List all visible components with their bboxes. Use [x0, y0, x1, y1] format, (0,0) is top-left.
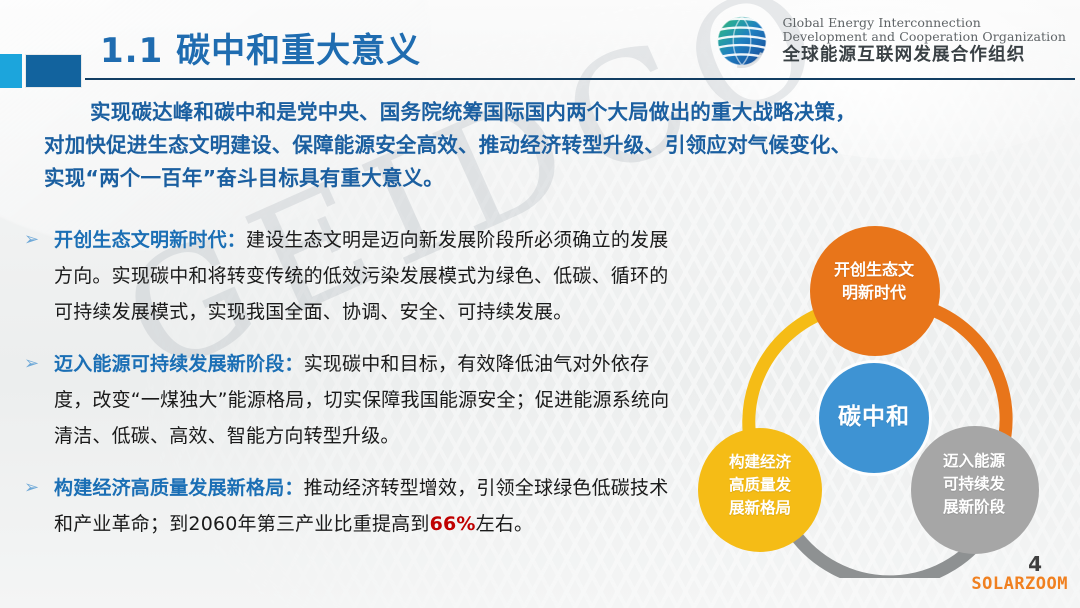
intro-paragraph: 实现碳达峰和碳中和是党中央、国务院统筹国际国内两个大局做出的重大战略决策， 对加…	[44, 96, 1040, 195]
logo-text-block: Global Energy Interconnection Developmen…	[782, 16, 1066, 66]
bullet-list: ➢ 开创生态文明新时代：建设生态文明是迈向新发展阶段所必须确立的发展方向。实现碳…	[24, 222, 684, 558]
logo-english-line-1: Global Energy Interconnection	[782, 16, 1066, 30]
bullet-3-lead: 构建经济高质量发展新格局：	[54, 477, 304, 499]
title-divider	[85, 78, 1075, 80]
bullet-arrow-icon: ➢	[24, 346, 39, 382]
node-circle-top[interactable]	[810, 226, 940, 356]
node-circle-center[interactable]	[819, 363, 929, 473]
page-title: 1.1 碳中和重大意义	[100, 23, 421, 72]
bullet-item-1: ➢ 开创生态文明新时代：建设生态文明是迈向新发展阶段所必须确立的发展方向。实现碳…	[24, 222, 684, 330]
diagram-svg	[690, 218, 1080, 578]
logo-chinese-name: 全球能源互联网发展合作组织	[782, 46, 1066, 66]
node-circle-right[interactable]	[911, 426, 1039, 554]
title-accent-navy-block	[25, 54, 82, 88]
globe-icon	[711, 10, 773, 72]
bullet-arrow-icon: ➢	[24, 222, 39, 258]
node-circle-left[interactable]	[698, 428, 822, 552]
intro-line-1: 实现碳达峰和碳中和是党中央、国务院统筹国际国内两个大局做出的重大战略决策，	[90, 100, 856, 124]
title-accent-cyan-block	[0, 54, 22, 88]
intro-line-3: 实现“两个一百年”奋斗目标具有重大意义。	[44, 166, 444, 190]
bullet-3-text-after: 左右。	[476, 513, 534, 535]
bullet-1-lead: 开创生态文明新时代：	[54, 229, 246, 251]
presentation-slide: GEIDCO 1.1 碳中和重大意义	[0, 0, 1080, 608]
three-circle-diagram: 开创生态文明新时代 碳中和 构建经济高质量发展新格局 迈入能源可持续发展新阶段	[690, 218, 1080, 578]
bullet-arrow-icon: ➢	[24, 470, 39, 506]
bullet-3-highlight: 66%	[430, 513, 476, 535]
organization-logo: Global Energy Interconnection Developmen…	[711, 10, 1066, 72]
bullet-item-3: ➢ 构建经济高质量发展新格局：推动经济转型增效，引领全球绿色低碳技术和产业革命；…	[24, 470, 684, 542]
page-number: 4	[1028, 552, 1042, 576]
site-watermark: SOLARZOOM	[971, 574, 1068, 594]
intro-line-2: 对加快促进生态文明建设、保障能源安全高效、推动经济转型升级、引领应对气候变化、	[44, 133, 851, 157]
logo-english-line-2: Development and Cooperation Organization	[782, 30, 1066, 44]
bullet-item-2: ➢ 迈入能源可持续发展新阶段：实现碳中和目标，有效降低油气对外依存度，改变“一煤…	[24, 346, 684, 454]
bullet-2-lead: 迈入能源可持续发展新阶段：	[54, 353, 304, 375]
